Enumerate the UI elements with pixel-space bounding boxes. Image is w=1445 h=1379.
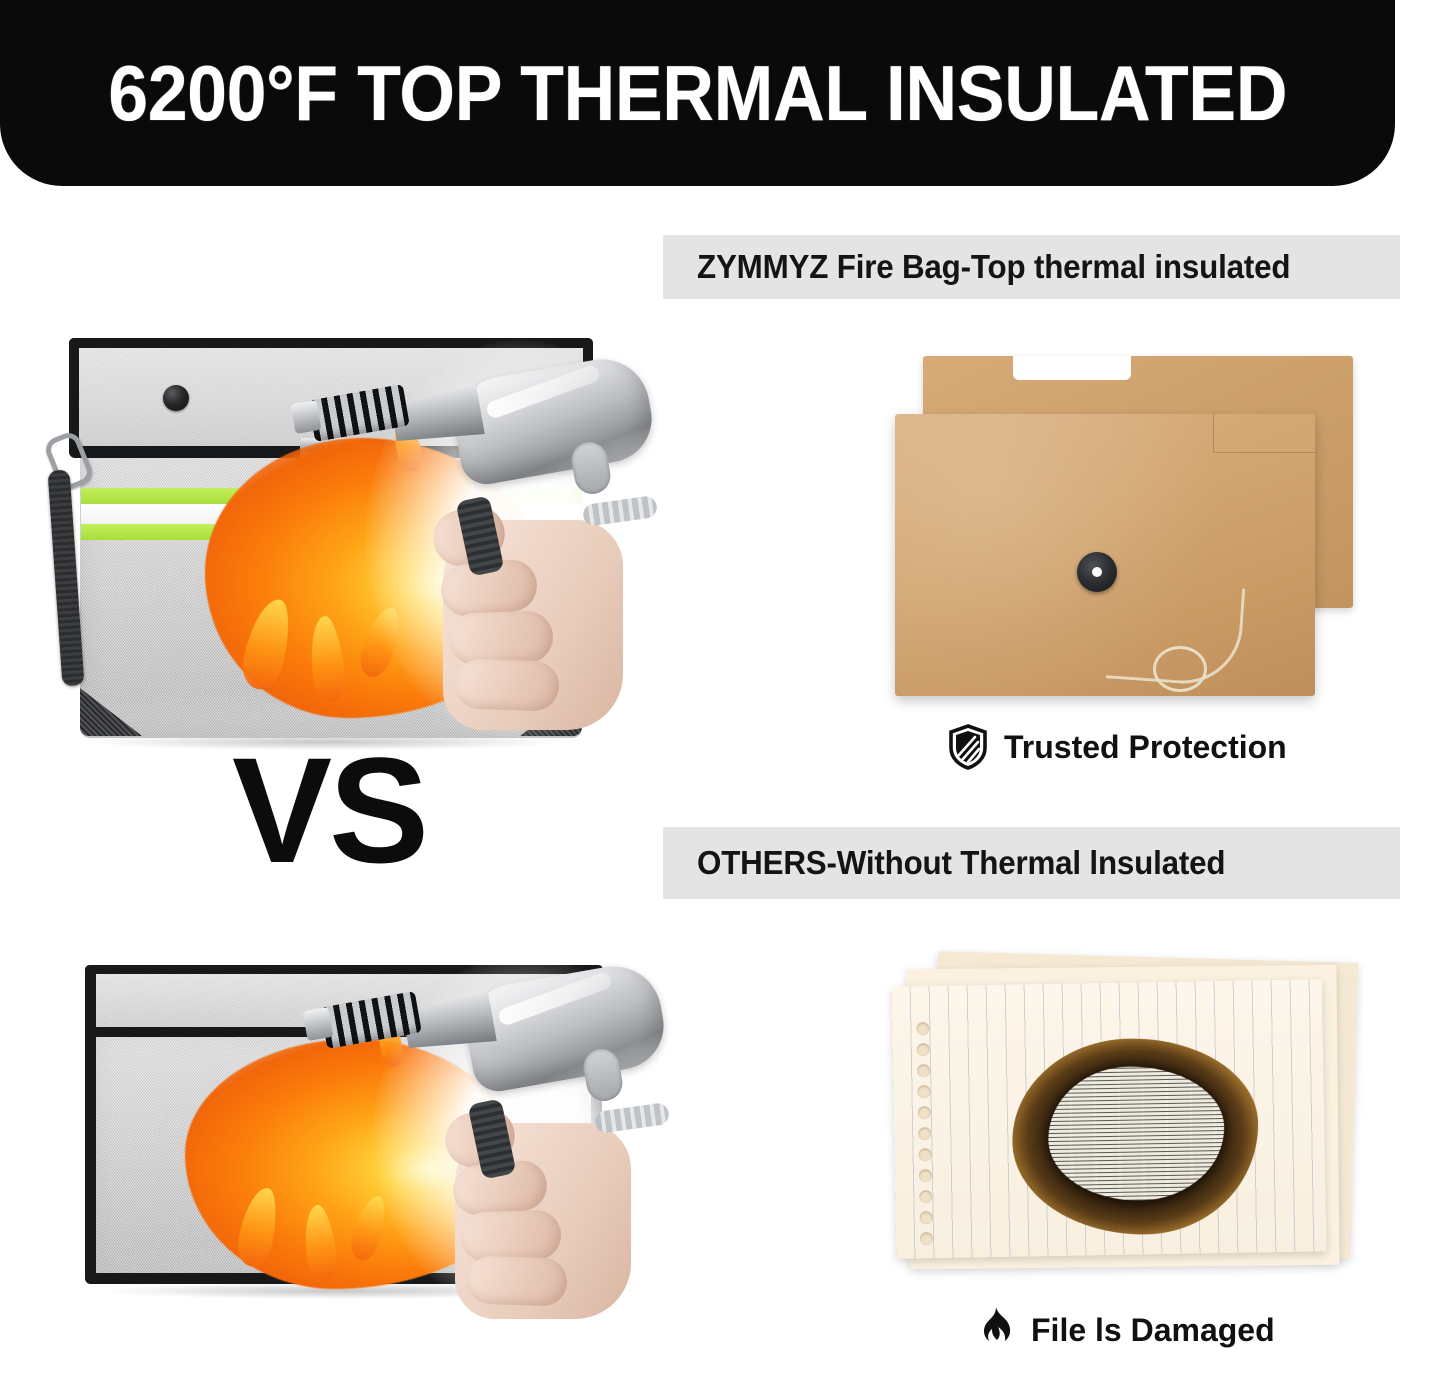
- caption-trusted-protection: Trusted Protection: [948, 724, 1287, 770]
- bag-wrist-strap: [47, 469, 84, 686]
- product-label-bad: OTHERS-Without Thermal lnsulated: [697, 844, 1225, 882]
- envelope-fold-line: [1213, 414, 1316, 453]
- bag-clasp: [300, 452, 358, 508]
- hand-finger-3: [448, 610, 554, 666]
- photo-burnt-paper: [880, 955, 1380, 1300]
- envelope-string-loop: [1153, 646, 1207, 692]
- newspaper-fragment: [1047, 1065, 1225, 1202]
- torch-tip: [303, 1007, 334, 1041]
- vs-label: VS: [232, 735, 426, 885]
- shield-icon: [948, 724, 988, 770]
- bag-snap-left: [163, 385, 189, 411]
- product-label-good: ZYMMYZ Fire Bag-Top thermal insulated: [697, 248, 1290, 286]
- photo-fireproof-bag-bad: [55, 955, 695, 1315]
- punch-hole: [920, 1232, 933, 1245]
- paper-punch-holes: [916, 1022, 938, 1270]
- punch-hole: [919, 1169, 932, 1182]
- punch-hole: [917, 1064, 930, 1077]
- punch-hole: [920, 1211, 933, 1224]
- photo-fireproof-bag-good: 6: [35, 330, 675, 740]
- punch-hole: [916, 1022, 929, 1035]
- envelope-string-button: [1077, 552, 1117, 592]
- bag-marking-text: 6: [267, 498, 286, 537]
- envelope-notch: [1013, 356, 1131, 380]
- product-label-band-bad: OTHERS-Without Thermal lnsulated: [663, 827, 1400, 899]
- hand-finger-4: [466, 1255, 568, 1306]
- hand-finger-3: [460, 1209, 562, 1262]
- punch-hole: [918, 1148, 931, 1161]
- header-banner: 6200°F TOP THERMAL INSULATED: [0, 0, 1395, 186]
- punch-hole: [917, 1085, 930, 1098]
- torch-tip: [291, 400, 322, 434]
- punch-hole: [917, 1043, 930, 1056]
- punch-hole: [919, 1190, 932, 1203]
- caption-file-damaged: File ls Damaged: [975, 1306, 1275, 1354]
- bag-trim-left: [85, 965, 96, 1283]
- punch-hole: [918, 1127, 931, 1140]
- page-title: 6200°F TOP THERMAL INSULATED: [108, 48, 1287, 139]
- caption-text-good: Trusted Protection: [1004, 729, 1287, 766]
- burn-hole: [1011, 1036, 1260, 1236]
- paper-sheet-front: [892, 979, 1327, 1258]
- envelope-front: [895, 414, 1315, 696]
- hand-finger-4: [454, 658, 560, 712]
- photo-kraft-envelope-intact: [895, 350, 1365, 710]
- flame-icon: [975, 1306, 1015, 1354]
- punch-hole: [918, 1106, 931, 1119]
- product-label-band-good: ZYMMYZ Fire Bag-Top thermal insulated: [663, 235, 1400, 299]
- caption-text-bad: File ls Damaged: [1031, 1312, 1275, 1349]
